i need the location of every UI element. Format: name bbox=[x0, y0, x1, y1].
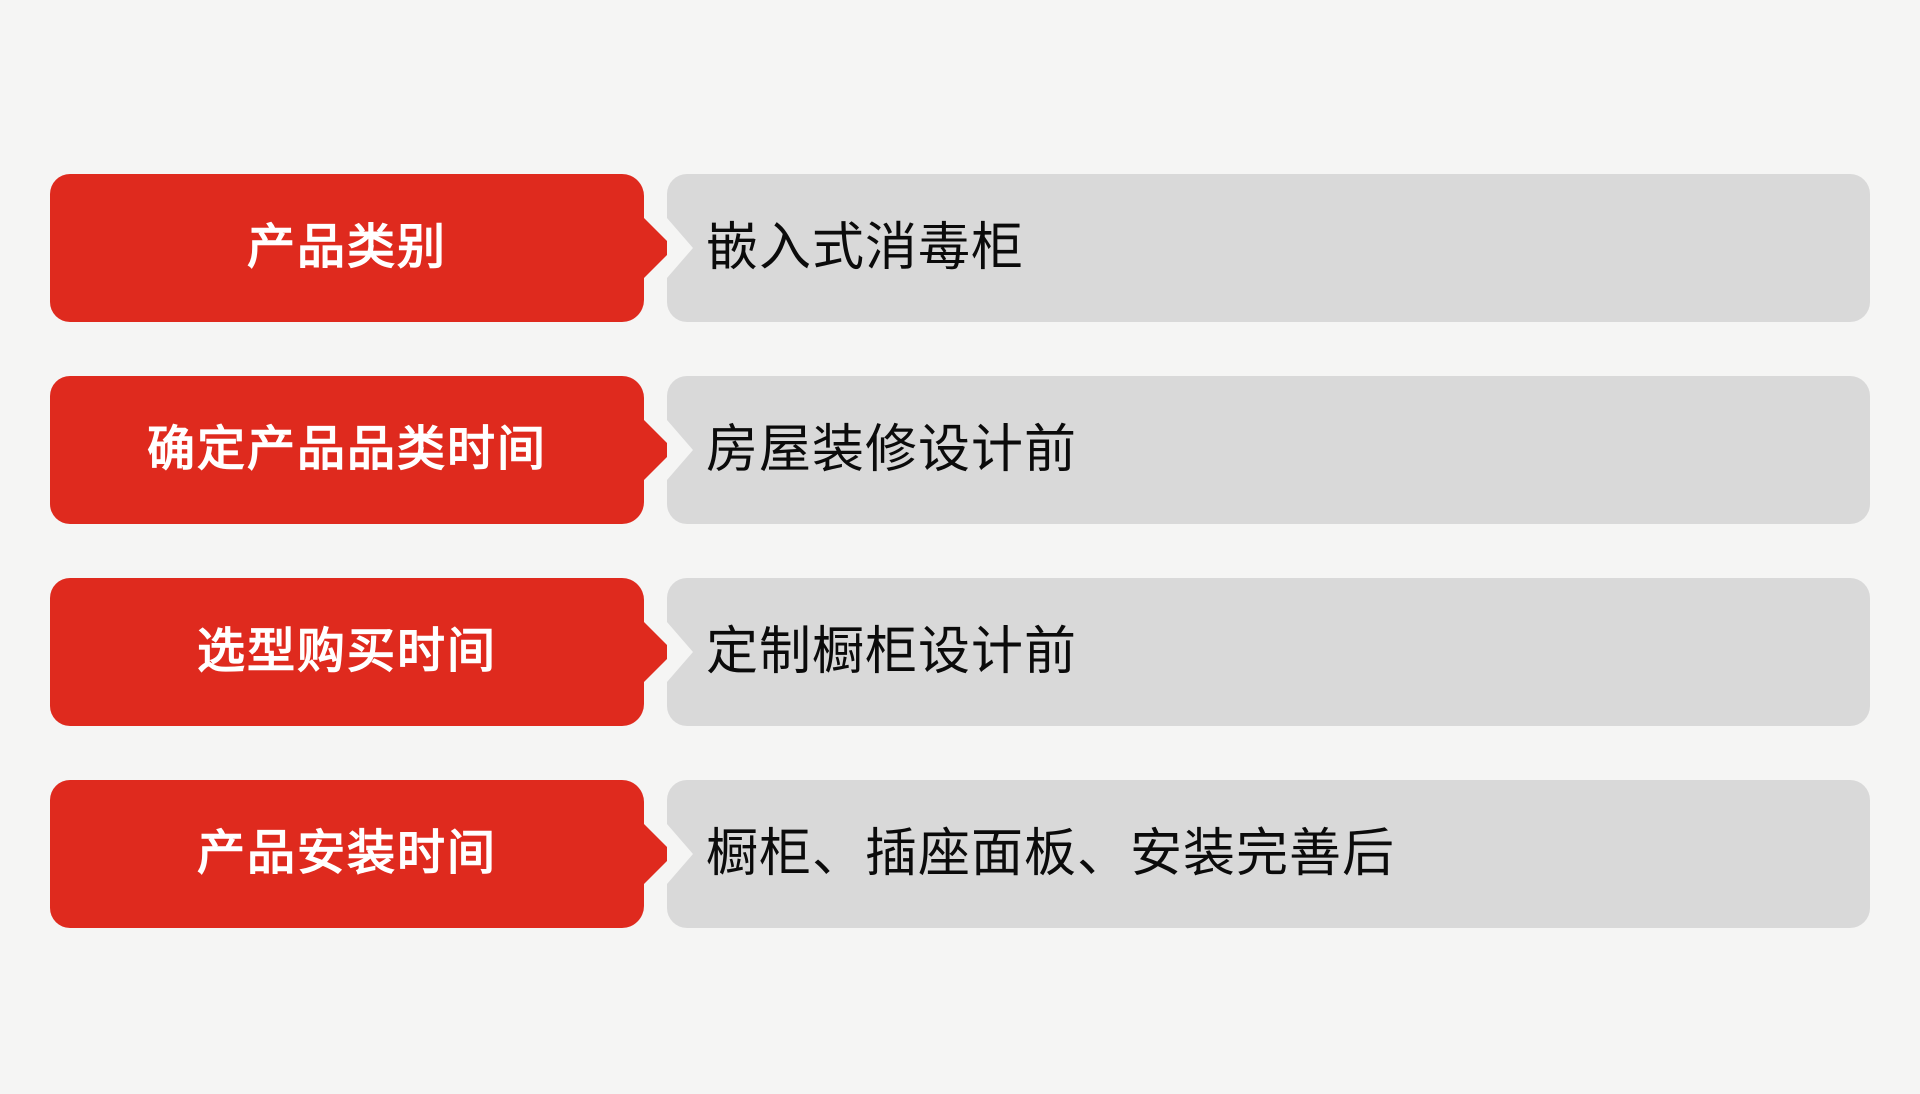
label-text: 产品类别 bbox=[50, 174, 644, 322]
value-text: 房屋装修设计前 bbox=[706, 376, 1077, 524]
label-text: 确定产品品类时间 bbox=[50, 376, 644, 524]
value-panel-notch bbox=[667, 824, 693, 884]
info-row: 橱柜、插座面板、安装完善后 产品安装时间 bbox=[50, 780, 1870, 928]
value-panel: 橱柜、插座面板、安装完善后 bbox=[667, 780, 1870, 928]
label-text: 选型购买时间 bbox=[50, 578, 644, 726]
info-row: 嵌入式消毒柜 产品类别 bbox=[50, 174, 1870, 322]
value-text: 橱柜、插座面板、安装完善后 bbox=[706, 780, 1395, 928]
label-panel: 产品安装时间 bbox=[50, 780, 644, 928]
value-panel-notch bbox=[667, 218, 693, 278]
value-text: 嵌入式消毒柜 bbox=[706, 174, 1024, 322]
value-panel-notch bbox=[667, 420, 693, 480]
info-table-board: 嵌入式消毒柜 产品类别 房屋装修设计前 确定产品品类时间 定制橱柜设计前 bbox=[0, 0, 1920, 1094]
info-row: 定制橱柜设计前 选型购买时间 bbox=[50, 578, 1870, 726]
value-text: 定制橱柜设计前 bbox=[706, 578, 1077, 726]
label-panel: 确定产品品类时间 bbox=[50, 376, 644, 524]
value-panel: 嵌入式消毒柜 bbox=[667, 174, 1870, 322]
info-row: 房屋装修设计前 确定产品品类时间 bbox=[50, 376, 1870, 524]
info-row-list: 嵌入式消毒柜 产品类别 房屋装修设计前 确定产品品类时间 定制橱柜设计前 bbox=[0, 0, 1920, 1094]
value-panel: 定制橱柜设计前 bbox=[667, 578, 1870, 726]
label-panel: 选型购买时间 bbox=[50, 578, 644, 726]
value-panel-notch bbox=[667, 622, 693, 682]
label-panel: 产品类别 bbox=[50, 174, 644, 322]
value-panel: 房屋装修设计前 bbox=[667, 376, 1870, 524]
label-text: 产品安装时间 bbox=[50, 780, 644, 928]
